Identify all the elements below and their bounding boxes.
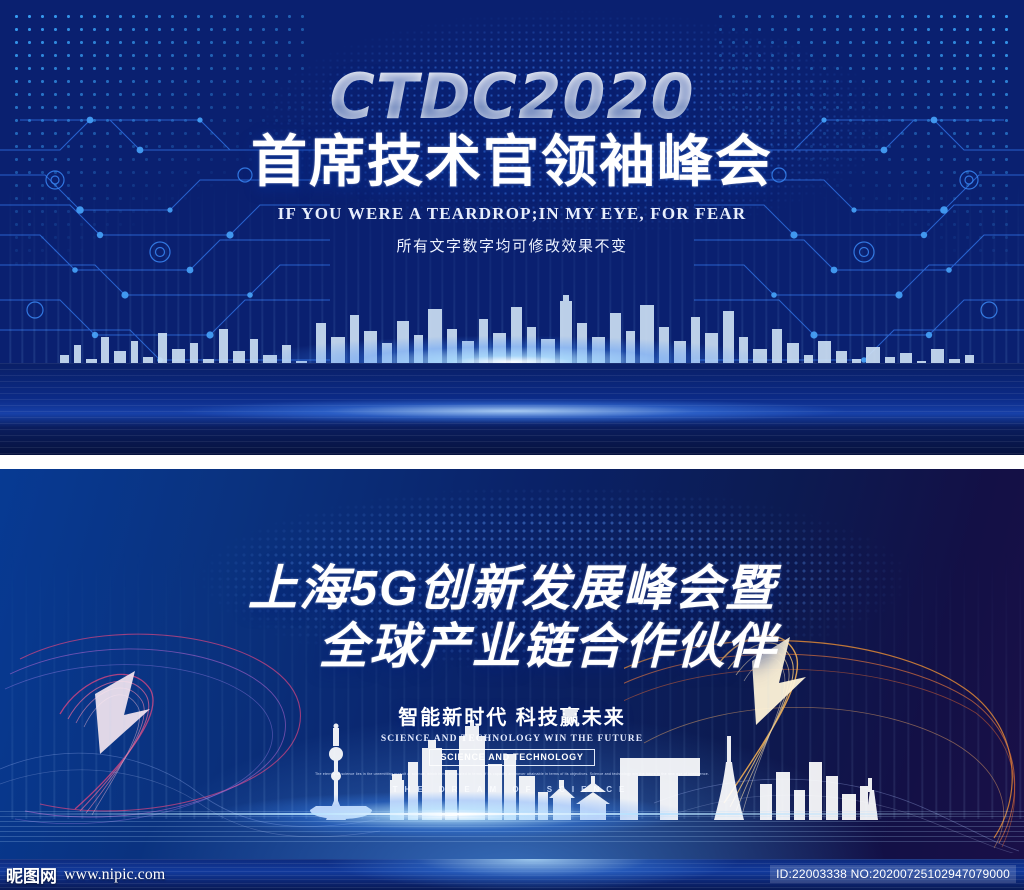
- bottom-light-bands: [0, 811, 1024, 845]
- poster-two-title-line2: 全球产业链合作伙伴: [0, 619, 1024, 677]
- poster-one-title-cn: 首席技术官领袖峰会: [0, 132, 1024, 192]
- poster-one-text-block: CTDC2020 首席技术官领袖峰会 IF YOU WERE A TEARDRO…: [0, 66, 1024, 256]
- poster-one-title-en: CTDC2020: [0, 66, 1024, 128]
- brand-name-cn: 昵图网: [6, 862, 57, 887]
- poster-one[interactable]: CTDC2020 首席技术官领袖峰会 IF YOU WERE A TEARDRO…: [0, 0, 1024, 455]
- brand-url[interactable]: www.nipic.com: [64, 866, 165, 884]
- site-footer-bar: 昵图网 www.nipic.com ID:22003338 NO:2020072…: [0, 859, 1024, 890]
- brand-block[interactable]: 昵图网 www.nipic.com: [6, 862, 165, 887]
- poster-one-note: 所有文字数字均可修改效果不变: [0, 235, 1024, 256]
- poster-one-subtitle-en: IF YOU WERE A TEARDROP;IN MY EYE, FOR FE…: [0, 204, 1024, 224]
- poster-divider: [0, 455, 1024, 469]
- poster-two-title-line1: 上海5G创新发展峰会暨: [0, 561, 1024, 619]
- asset-id-badge: ID:22003338 NO:20200725102947079000: [770, 865, 1016, 883]
- poster-preview-stage: CTDC2020 首席技术官领袖峰会 IF YOU WERE A TEARDRO…: [0, 0, 1024, 890]
- poster-two[interactable]: 上海5G创新发展峰会暨 全球产业链合作伙伴 智能新时代 科技赢未来 SCIENC…: [0, 469, 1024, 859]
- bottom-light-bands: [0, 363, 1024, 455]
- poster-two-title-block: 上海5G创新发展峰会暨 全球产业链合作伙伴: [0, 561, 1024, 677]
